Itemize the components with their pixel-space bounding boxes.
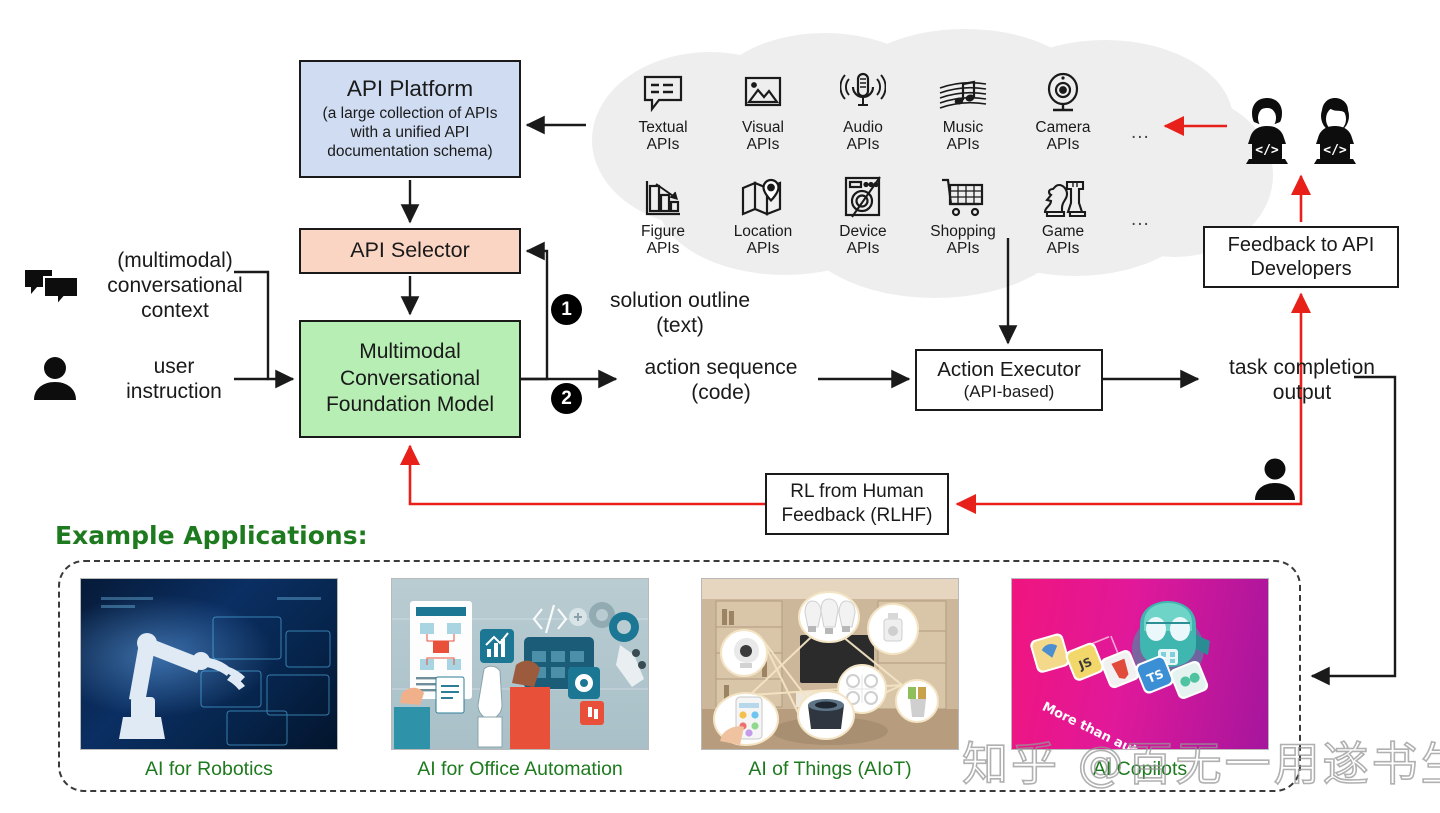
location-api-icon: [713, 172, 813, 220]
api-label-sub: APIs: [1047, 240, 1080, 257]
api-item-game[interactable]: GameAPIs: [1013, 172, 1113, 258]
arrow-output-to-applications: [1312, 377, 1395, 676]
user-person-icon: [32, 356, 78, 400]
foundation-model-box[interactable]: Multimodal Conversational Foundation Mod…: [299, 320, 521, 438]
api-ellipsis-row1: ...: [1131, 122, 1150, 144]
figure-api-icon: [613, 172, 713, 220]
api-item-camera[interactable]: CameraAPIs: [1013, 68, 1113, 154]
smart-home-thumbnail: [701, 578, 959, 750]
action-executor-box[interactable]: Action Executor (API-based): [915, 349, 1103, 411]
rlhf-line2: Feedback (RLHF): [782, 505, 933, 526]
api-label: Device: [839, 223, 886, 240]
application-caption: AI for Office Automation: [391, 758, 649, 781]
api-platform-sub2: with a unified API: [351, 124, 470, 141]
fm-line3: Foundation Model: [326, 393, 494, 416]
multimodal-context-label: (multimodal) conversational context: [60, 248, 290, 324]
visual-api-icon: [713, 68, 813, 116]
developer-female-icon: </>: [1235, 96, 1299, 168]
foundation-model-title: Multimodal Conversational Foundation Mod…: [326, 339, 494, 420]
api-label-sub: APIs: [847, 136, 880, 153]
application-card-office[interactable]: AI for Office Automation: [391, 578, 649, 781]
svg-text:</>: </>: [1255, 143, 1279, 158]
api-label: Game: [1042, 223, 1084, 240]
application-card-copilots[interactable]: JS TS: [1011, 578, 1269, 781]
api-item-location[interactable]: LocationAPIs: [713, 172, 813, 258]
api-label: Shopping: [930, 223, 996, 240]
api-label: Visual: [742, 119, 784, 136]
arrow-user-to-rlhf: [957, 455, 1301, 504]
api-icon-grid: TextualAPIs VisualAPIs: [613, 68, 1133, 257]
action-executor-title: Action Executor: [937, 358, 1081, 382]
api-label-sub: APIs: [747, 136, 780, 153]
api-label: Textual: [638, 119, 687, 136]
ctx-line1: (multimodal): [117, 249, 233, 272]
human-feedback-person-icon: [1253, 458, 1297, 500]
as-line1: action sequence: [645, 356, 798, 379]
example-applications-heading: Example Applications:: [55, 521, 368, 550]
api-platform-box[interactable]: API Platform (a large collection of APIs…: [299, 60, 521, 178]
api-item-music[interactable]: MusicAPIs: [913, 68, 1013, 154]
as-line2: (code): [691, 381, 751, 404]
api-row-1: TextualAPIs VisualAPIs: [613, 68, 1133, 154]
api-selector-box[interactable]: API Selector: [299, 228, 521, 274]
ctx-line3: context: [141, 299, 209, 322]
api-item-device[interactable]: DeviceAPIs: [813, 172, 913, 258]
svg-text:</>: </>: [1323, 143, 1347, 158]
api-label: Location: [734, 223, 793, 240]
api-label: Audio: [843, 119, 883, 136]
tc-line1: task completion: [1229, 356, 1375, 379]
music-api-icon: [913, 68, 1013, 116]
so-line1: solution outline: [610, 289, 750, 312]
ctx-line2: conversational: [107, 274, 242, 297]
api-ellipsis-row2: ...: [1131, 209, 1150, 231]
api-item-figure[interactable]: FigureAPIs: [613, 172, 713, 258]
api-item-textual[interactable]: TextualAPIs: [613, 68, 713, 154]
api-label-sub: APIs: [647, 240, 680, 257]
application-card-robotics[interactable]: AI for Robotics: [80, 578, 338, 781]
arrow-model-to-selector-feedback: [521, 251, 547, 379]
fb-line2: Developers: [1250, 258, 1351, 280]
user-instruction-label: user instruction: [76, 354, 272, 404]
copilot-thumbnail: JS TS: [1011, 578, 1269, 750]
api-label-sub: APIs: [947, 136, 980, 153]
api-label-sub: APIs: [747, 240, 780, 257]
office-automation-thumbnail: [391, 578, 649, 750]
application-caption: AI for Robotics: [80, 758, 338, 781]
api-label: Figure: [641, 223, 685, 240]
device-api-icon: [813, 172, 913, 220]
so-line2: (text): [656, 314, 704, 337]
conversation-bubbles-icon: [24, 268, 82, 308]
api-item-audio[interactable]: AudioAPIs: [813, 68, 913, 154]
step-badge-2: 2: [551, 383, 582, 414]
api-platform-subtitle: (a large collection of APIs with a unifi…: [317, 105, 504, 162]
feedback-dev-title: Feedback to API Developers: [1228, 233, 1375, 282]
feedback-to-developers-box[interactable]: Feedback to API Developers: [1203, 226, 1399, 288]
api-label-sub: APIs: [947, 240, 980, 257]
task-completion-output-label: task completion output: [1206, 355, 1398, 405]
fm-line1: Multimodal: [359, 340, 461, 363]
api-label-sub: APIs: [647, 136, 680, 153]
svg-text:More than aut: More than aut: [1040, 700, 1140, 750]
camera-api-icon: [1013, 68, 1113, 116]
api-selector-title: API Selector: [350, 238, 470, 263]
textual-api-icon: [613, 68, 713, 116]
robot-arm-thumbnail: [80, 578, 338, 750]
svg-text:ocomplete: ocomplete: [1126, 742, 1202, 750]
tc-line2: output: [1273, 381, 1331, 404]
rlhf-box[interactable]: RL from Human Feedback (RLHF): [765, 473, 949, 535]
solution-outline-label: solution outline (text): [592, 288, 768, 338]
arrow-rlhf-to-model: [410, 446, 765, 504]
action-sequence-label: action sequence (code): [628, 355, 814, 405]
application-caption: AI of Things (AIoT): [701, 758, 959, 781]
application-card-aiot[interactable]: AI of Things (AIoT): [701, 578, 959, 781]
api-label-sub: APIs: [847, 240, 880, 257]
game-api-icon: [1013, 172, 1113, 220]
fm-line2: Conversational: [340, 367, 480, 390]
api-platform-sub3: documentation schema): [327, 143, 492, 160]
step-badge-1: 1: [551, 294, 582, 325]
ui-line1: user: [154, 355, 195, 378]
api-platform-title: API Platform: [347, 76, 473, 103]
audio-api-icon: [813, 68, 913, 116]
api-label: Music: [943, 119, 983, 136]
shopping-api-icon: [913, 172, 1013, 220]
api-label: Camera: [1035, 119, 1090, 136]
application-caption: AI Copilots: [1011, 758, 1269, 781]
fb-line1: Feedback to API: [1228, 234, 1375, 256]
api-label-sub: APIs: [1047, 136, 1080, 153]
api-row-2: FigureAPIs LocationAPIs: [613, 172, 1133, 258]
api-item-shopping[interactable]: ShoppingAPIs: [913, 172, 1013, 258]
developer-male-icon: </>: [1303, 96, 1367, 168]
api-platform-sub1: (a large collection of APIs: [323, 105, 498, 122]
ui-line2: instruction: [126, 380, 222, 403]
rlhf-line1: RL from Human: [790, 481, 923, 502]
rlhf-title: RL from Human Feedback (RLHF): [782, 480, 933, 527]
api-item-visual[interactable]: VisualAPIs: [713, 68, 813, 154]
action-executor-subtitle: (API-based): [964, 382, 1055, 402]
